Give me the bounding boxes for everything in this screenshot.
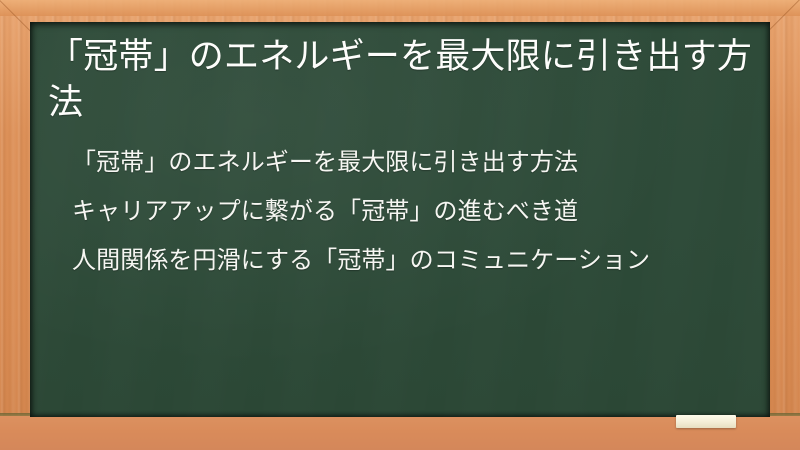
chalk-stick-icon [676, 415, 736, 428]
board-content: 「冠帯」のエネルギーを最大限に引き出す方法 「冠帯」のエネルギーを最大限に引き出… [30, 22, 770, 417]
list-item: 「冠帯」のエネルギーを最大限に引き出す方法 [72, 147, 746, 178]
chalkboard-surface: 「冠帯」のエネルギーを最大限に引き出す方法 「冠帯」のエネルギーを最大限に引き出… [30, 22, 770, 417]
frame-top-highlight [0, 0, 800, 16]
chalkboard-slide: 「冠帯」のエネルギーを最大限に引き出す方法 「冠帯」のエネルギーを最大限に引き出… [0, 0, 800, 450]
page-title: 「冠帯」のエネルギーを最大限に引き出す方法 [44, 28, 756, 125]
list-item: キャリアアップに繋がる「冠帯」の進むべき道 [72, 196, 746, 227]
topic-list: 「冠帯」のエネルギーを最大限に引き出す方法 キャリアアップに繋がる「冠帯」の進む… [44, 147, 756, 277]
list-item: 人間関係を円滑にする「冠帯」のコミュニケーション [72, 245, 746, 276]
